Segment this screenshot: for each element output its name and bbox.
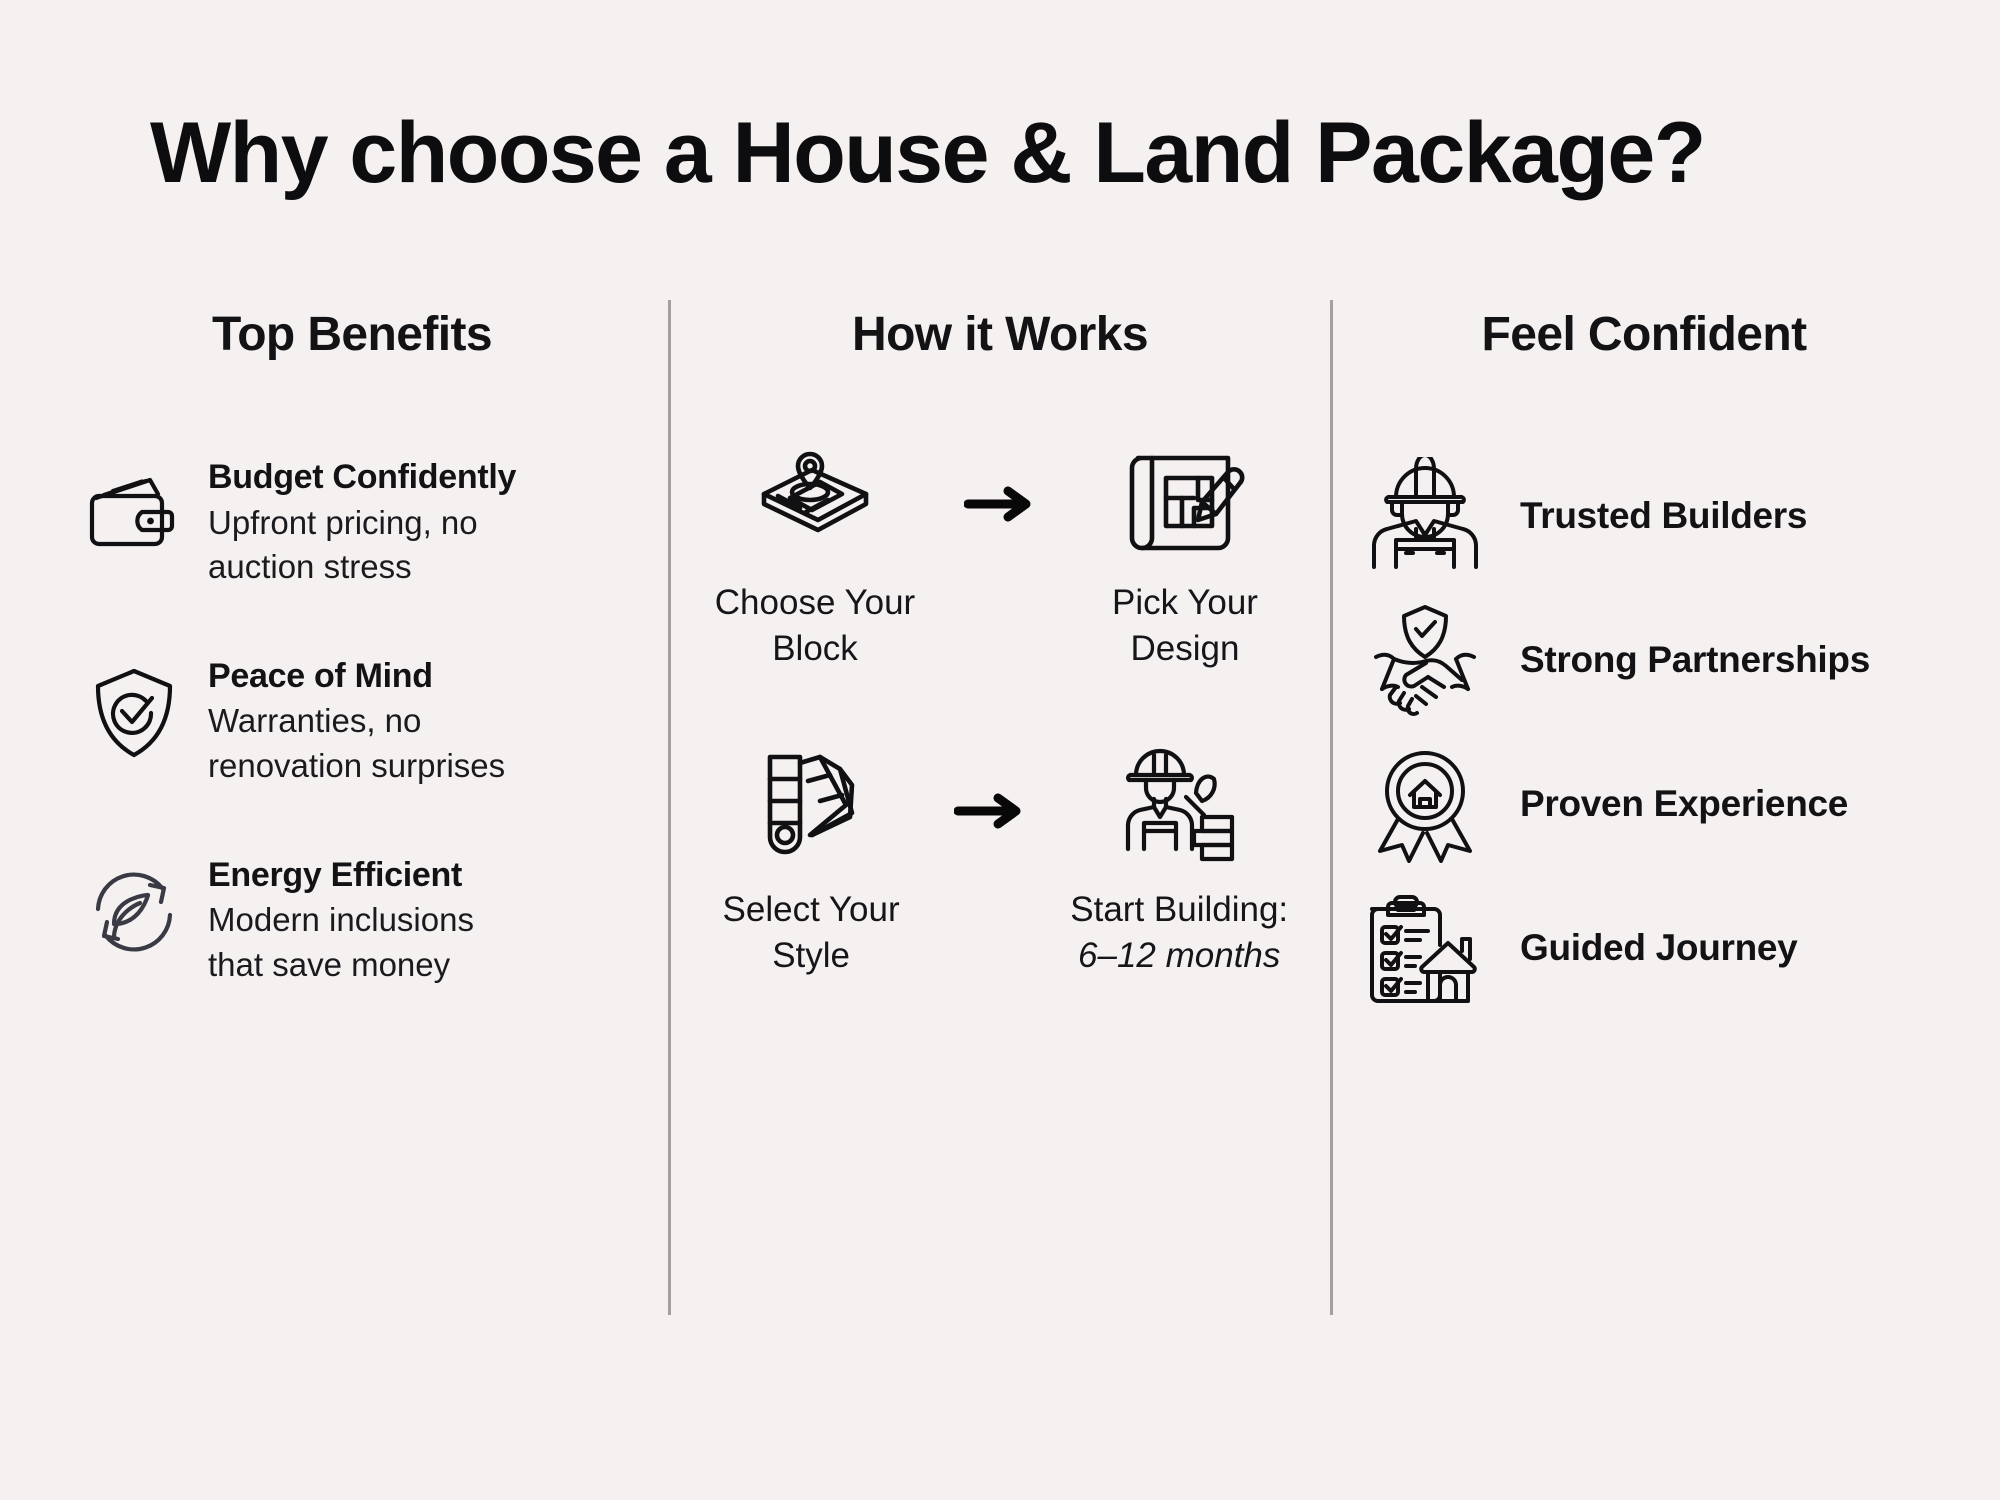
- confidence-label: Proven Experience: [1520, 783, 1848, 825]
- shield-check-icon: [84, 663, 184, 763]
- benefit-description: Modern inclusions that save money: [208, 898, 538, 986]
- step-row: Choose Your Block: [690, 432, 1310, 671]
- benefit-description: Upfront pricing, no auction stress: [208, 501, 538, 589]
- steps-grid: Choose Your Block: [690, 432, 1310, 978]
- confidence-label: Trusted Builders: [1520, 495, 1807, 537]
- step-label: Start Building: 6–12 months: [1048, 887, 1310, 978]
- benefit-description: Warranties, no renovation surprises: [208, 699, 538, 787]
- column-top-benefits: Top Benefits Budget Confidently: [70, 300, 650, 1049]
- page-title: Why choose a House & Land Package?: [150, 108, 1850, 198]
- step-label: Select Your Style: [690, 887, 932, 978]
- step-row: Select Your Style: [690, 739, 1310, 978]
- construction-worker-icon: [1366, 457, 1484, 575]
- step-label-emphasis: 6–12 months: [1078, 936, 1280, 975]
- infographic-page: Why choose a House & Land Package? Top B…: [0, 0, 2000, 1500]
- step-label: Pick Your Design: [1060, 580, 1310, 671]
- column-heading-how-it-works: How it Works: [690, 300, 1310, 370]
- color-swatch-fan-icon: [746, 739, 876, 869]
- list-item: Proven Experience: [1352, 732, 1982, 876]
- arrow-right-icon: [932, 739, 1048, 831]
- confidence-label: Guided Journey: [1520, 927, 1797, 969]
- confidence-label: Strong Partnerships: [1520, 639, 1870, 681]
- column-divider-left: [668, 300, 671, 1315]
- map-pin-layers-icon: [750, 432, 880, 562]
- benefit-title: Energy Efficient: [208, 854, 538, 897]
- builder-bricks-icon: [1114, 739, 1244, 869]
- wallet-icon: [84, 464, 184, 564]
- column-divider-right: [1330, 300, 1333, 1315]
- step-start-building: Start Building: 6–12 months: [1048, 739, 1310, 978]
- step-pick-your-design: Pick Your Design: [1060, 432, 1310, 671]
- step-select-your-style: Select Your Style: [690, 739, 932, 978]
- column-heading-benefits: Top Benefits: [70, 300, 650, 370]
- blueprint-pencil-icon: [1120, 432, 1250, 562]
- list-item: Strong Partnerships: [1352, 588, 1982, 732]
- benefit-title: Budget Confidently: [208, 456, 538, 499]
- column-heading-feel-confident: Feel Confident: [1352, 300, 1982, 370]
- list-item: Energy Efficient Modern inclusions that …: [70, 850, 650, 987]
- column-how-it-works: How it Works: [690, 300, 1310, 1004]
- handshake-shield-icon: [1366, 601, 1484, 719]
- step-label: Choose Your Block: [690, 580, 940, 671]
- benefit-title: Peace of Mind: [208, 655, 538, 698]
- confidence-list: Trusted Builders: [1352, 444, 1982, 1020]
- list-item: Peace of Mind Warranties, no renovation …: [70, 651, 650, 788]
- arrow-right-icon: [940, 432, 1060, 524]
- award-house-rosette-icon: [1366, 745, 1484, 863]
- benefits-list: Budget Confidently Upfront pricing, no a…: [70, 452, 650, 987]
- column-feel-confident: Feel Confident: [1352, 300, 1982, 1020]
- list-item: Budget Confidently Upfront pricing, no a…: [70, 452, 650, 589]
- step-label-text: Start Building:: [1070, 890, 1288, 929]
- list-item: Guided Journey: [1352, 876, 1982, 1020]
- list-item: Trusted Builders: [1352, 444, 1982, 588]
- step-choose-your-block: Choose Your Block: [690, 432, 940, 671]
- clipboard-house-checklist-icon: [1366, 889, 1484, 1007]
- eco-leaf-recycle-icon: [84, 862, 184, 962]
